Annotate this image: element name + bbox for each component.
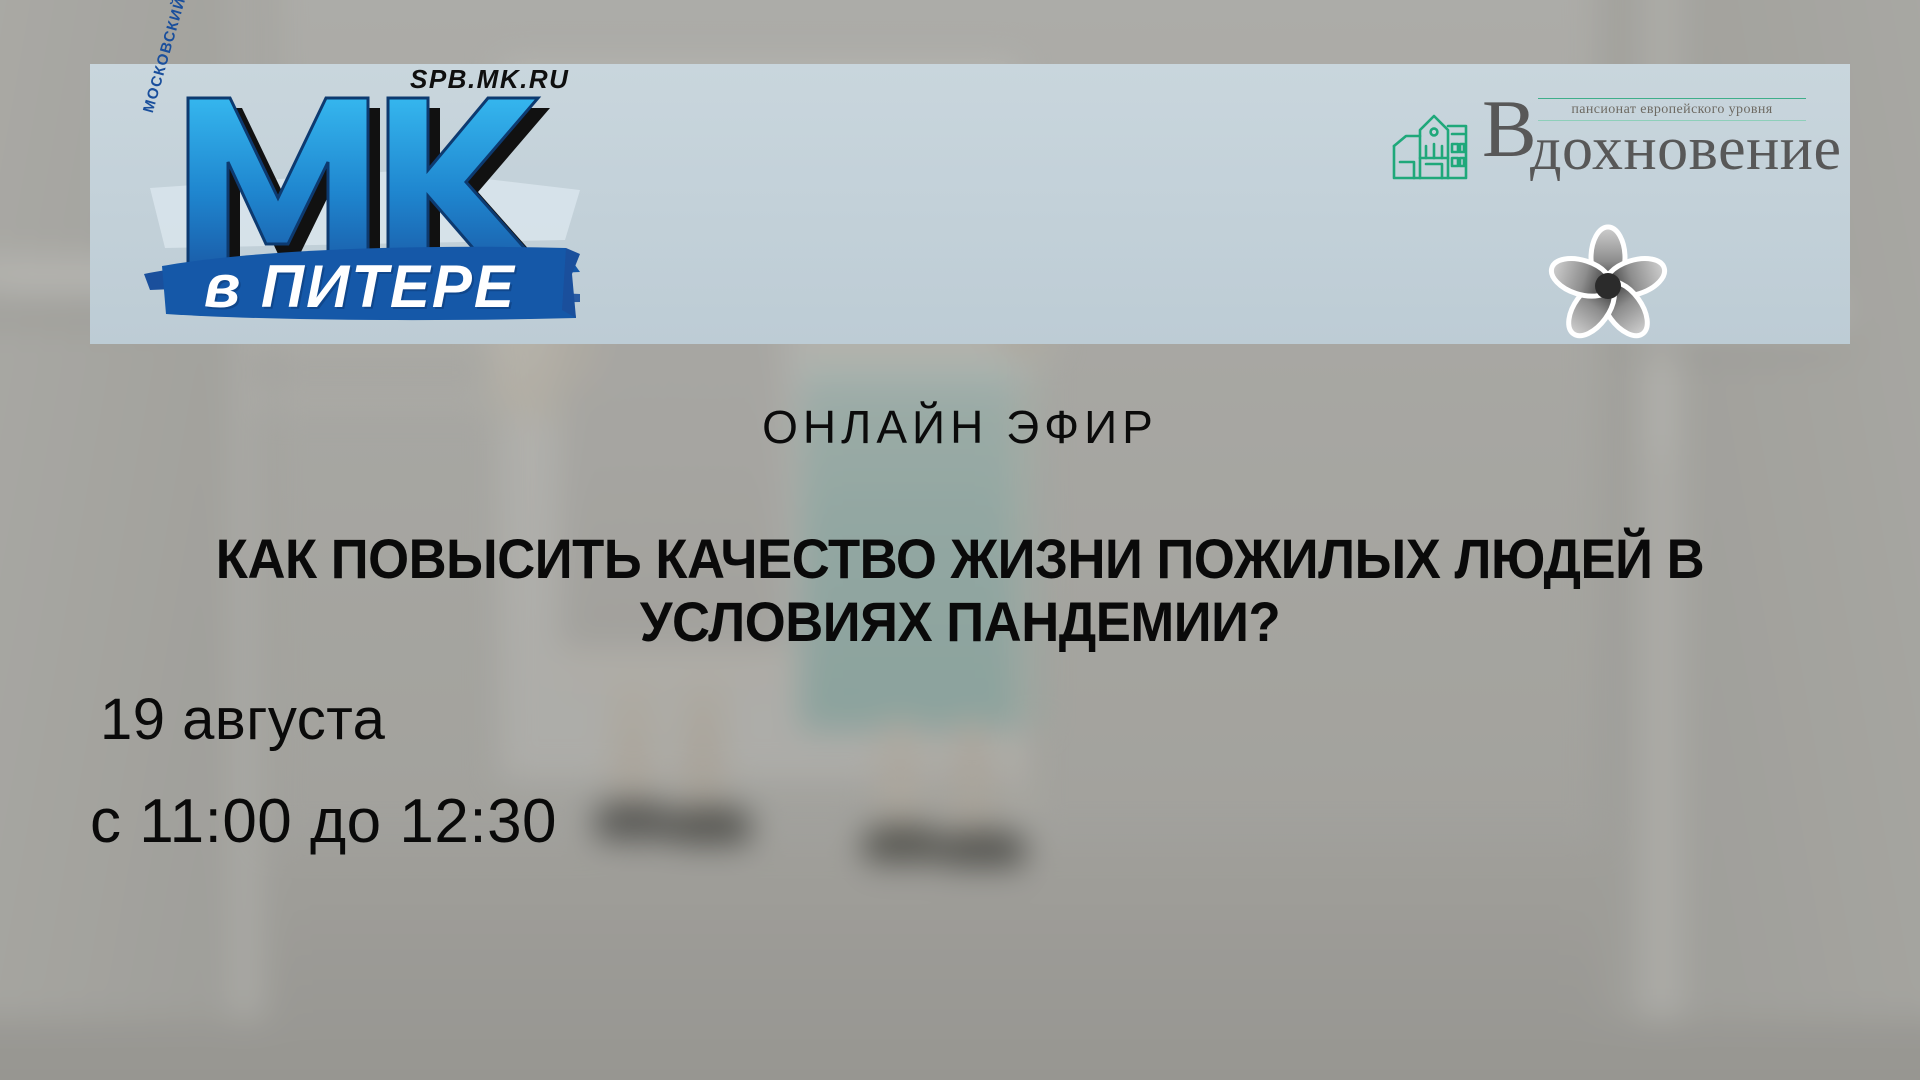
- partner-logo-vdohnovenie[interactable]: пансионат европейского уровня В дохновен…: [1390, 86, 1820, 196]
- event-date: 19 августа: [100, 686, 385, 753]
- flower-icon: [1548, 222, 1668, 342]
- mk-piter-brushstroke: в ПИТЕРЕ: [162, 244, 592, 322]
- kicker-online-broadcast: ОНЛАЙН ЭФИР: [0, 400, 1920, 454]
- mk-site-url: SPB.MK.RU: [410, 64, 569, 95]
- building-icon: [1390, 100, 1474, 182]
- page-title: КАК ПОВЫСИТЬ КАЧЕСТВО ЖИЗНИ ПОЖИЛЫХ ЛЮДЕ…: [161, 528, 1759, 653]
- mk-piter-label: в ПИТЕРЕ: [204, 252, 516, 321]
- partner-initial: В: [1482, 88, 1537, 170]
- flower-mark: [1548, 222, 1668, 342]
- partner-name: дохновение: [1530, 118, 1842, 180]
- header-banner: SPB.MK.RU МОСКОВСКИЙ КОМСОМОЛЕЦ в ПИТЕРЕ: [90, 64, 1850, 344]
- event-time: с 11:00 до 12:30: [90, 786, 557, 857]
- mk-logo[interactable]: SPB.MK.RU МОСКОВСКИЙ КОМСОМОЛЕЦ в ПИТЕРЕ: [110, 58, 630, 358]
- online-broadcast-poster: SPB.MK.RU МОСКОВСКИЙ КОМСОМОЛЕЦ в ПИТЕРЕ: [0, 0, 1920, 1080]
